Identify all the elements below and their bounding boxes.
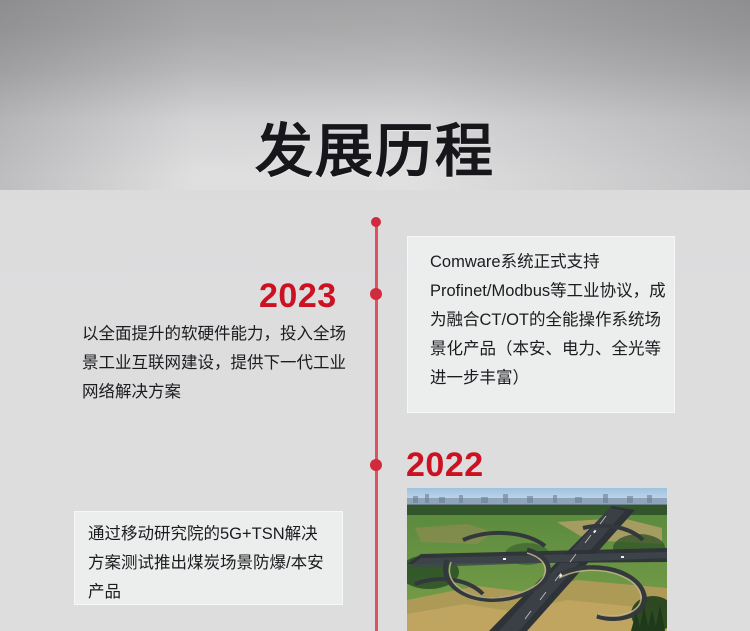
timeline-dot-2023 — [370, 288, 382, 300]
highway-interchange-aerial-image — [407, 488, 667, 631]
timeline-axis-line — [375, 222, 378, 631]
entry-2023-right-card: Comware系统正式支持Profinet/Modbus等工业协议，成为融合CT… — [407, 236, 675, 413]
entry-2023-right-text: Comware系统正式支持Profinet/Modbus等工业协议，成为融合CT… — [430, 248, 666, 393]
timeline-page: 发展历程 2023 以全面提升的软硬件能力，投入全场景工业互联网建设，提供下一代… — [0, 0, 750, 631]
timeline-dot-2022 — [370, 459, 382, 471]
page-title: 发展历程 — [0, 104, 750, 188]
year-label-2023: 2023 — [259, 277, 337, 316]
year-label-2022: 2022 — [406, 446, 484, 485]
entry-2022-left-card: 通过移动研究院的5G+TSN解决方案测试推出煤炭场景防爆/本安产品 — [74, 511, 343, 605]
entry-2022-photo — [407, 488, 667, 631]
entry-2022-left-text: 通过移动研究院的5G+TSN解决方案测试推出煤炭场景防爆/本安产品 — [88, 520, 334, 607]
entry-2023-left-text: 以全面提升的软硬件能力，投入全场景工业互联网建设，提供下一代工业网络解决方案 — [82, 320, 350, 407]
timeline-start-marker-icon — [365, 211, 387, 233]
